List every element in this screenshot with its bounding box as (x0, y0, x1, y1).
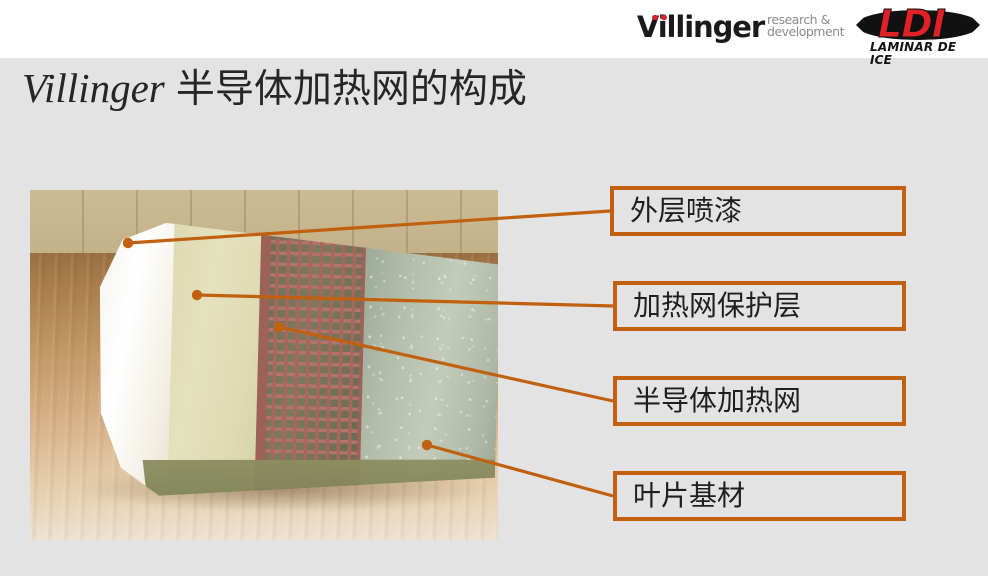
villinger-i-dot-second (661, 15, 667, 21)
page-title-brand: Villinger (22, 65, 165, 111)
callout-label-blade-substrate: 叶片基材 (633, 481, 745, 511)
callout-box-blade-substrate[interactable]: 叶片基材 (613, 471, 906, 521)
callout-label-outer-paint: 外层喷漆 (630, 196, 742, 226)
callout-label-heating-mesh: 半导体加热网 (633, 386, 801, 416)
photo-specimen (64, 202, 498, 513)
callout-label-mesh-protection: 加热网保护层 (633, 291, 801, 321)
callout-box-heating-mesh[interactable]: 半导体加热网 (613, 376, 906, 426)
villinger-logo: Villinger research & development (637, 13, 844, 46)
callout-box-mesh-protection[interactable]: 加热网保护层 (613, 281, 906, 331)
ldi-logo: LDI LAMINAR DE ICE (854, 3, 982, 55)
villinger-i-dot-first (652, 15, 658, 21)
villinger-tagline-line2: development (767, 26, 844, 38)
composite-sample-photo (30, 190, 498, 540)
page-title-chinese: 半导体加热网的构成 (176, 67, 527, 112)
callout-box-outer-paint[interactable]: 外层喷漆 (610, 186, 906, 236)
ldi-tagline: LAMINAR DE ICE (870, 41, 982, 67)
photo-layer-outer-paint (64, 202, 184, 505)
logo-group: Villinger research & development LDI LAM… (637, 0, 982, 58)
page-title: Villinger 半导体加热网的构成 (22, 62, 527, 116)
photo-specimen-body (64, 202, 498, 513)
ldi-wordmark: LDI (878, 4, 945, 44)
villinger-wordmark: Villinger (637, 13, 764, 42)
villinger-tagline: research & development (767, 14, 844, 41)
